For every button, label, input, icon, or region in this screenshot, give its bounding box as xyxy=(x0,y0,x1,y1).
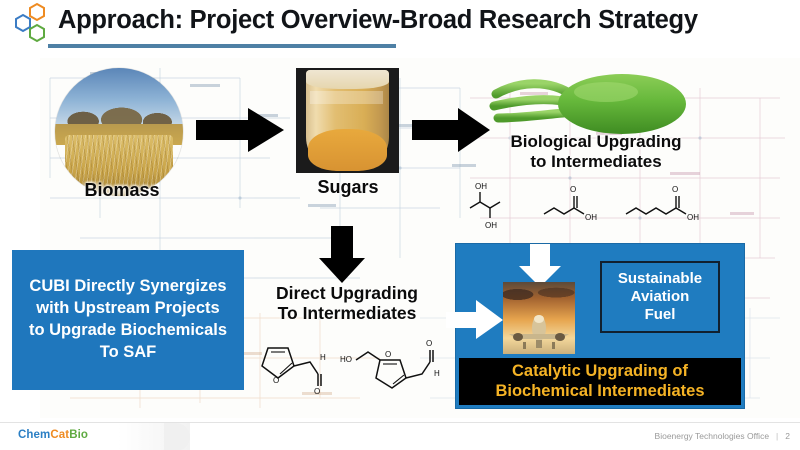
direct-molecule-structures: O O H HO O O H xyxy=(254,332,446,394)
wordmark-bio: Bio xyxy=(69,429,88,441)
footer-page-number: 2 xyxy=(785,431,790,441)
slide-footer: ChemCatBio Bioenergy Technologies Office… xyxy=(0,422,800,450)
slide-canvas: Approach: Project Overview-Broad Researc… xyxy=(0,0,800,450)
cubi-line2: with Upstream Projects xyxy=(36,299,219,317)
svg-text:HO: HO xyxy=(340,355,352,364)
svg-text:O: O xyxy=(385,350,391,359)
cubi-line1: CUBI Directly Synergizes xyxy=(29,277,226,295)
bio-label-line1: Biological Upgrading xyxy=(511,132,682,151)
svg-text:OH: OH xyxy=(585,213,597,222)
svg-text:O: O xyxy=(273,376,279,385)
svg-text:OH: OH xyxy=(475,182,487,191)
catalytic-banner-text: Catalytic Upgrading of Biochemical Inter… xyxy=(495,362,704,400)
cubi-line4: To SAF xyxy=(100,343,157,361)
airplane-image xyxy=(503,282,575,354)
wordmark-chem: Chem xyxy=(18,429,50,441)
banner-line2: Biochemical Intermediates xyxy=(495,382,704,400)
title-underline-rule xyxy=(48,44,396,48)
catalytic-banner: Catalytic Upgrading of Biochemical Inter… xyxy=(459,358,741,405)
chemcatbio-hexagon-logo xyxy=(4,2,56,50)
saf-line1: Sustainable xyxy=(618,270,702,287)
wordmark-cat: Cat xyxy=(50,429,69,441)
direct-label-line2: To Intermediates xyxy=(278,303,417,323)
svg-text:OH: OH xyxy=(687,213,699,222)
arrow-biomass-to-sugars xyxy=(196,108,286,152)
biomass-image xyxy=(55,68,183,196)
biomass-label: Biomass xyxy=(63,180,181,201)
direct-label-line1: Direct Upgrading xyxy=(276,283,418,303)
bio-label-line2: to Intermediates xyxy=(530,152,661,171)
svg-text:O: O xyxy=(314,387,320,394)
footer-right-group: Bioenergy Technologies Office | 2 xyxy=(655,431,790,441)
sugars-label: Sugars xyxy=(286,177,410,198)
svg-text:OH: OH xyxy=(485,221,497,230)
svg-text:O: O xyxy=(426,339,432,348)
page-title: Approach: Project Overview-Broad Researc… xyxy=(58,6,698,35)
biological-upgrading-label: Biological Upgrading to Intermediates xyxy=(476,132,716,172)
direct-upgrading-label: Direct Upgrading To Intermediates xyxy=(252,283,442,324)
svg-text:O: O xyxy=(570,185,576,194)
banner-line1: Catalytic Upgrading of xyxy=(512,362,688,380)
sugars-image xyxy=(296,68,399,173)
saf-text: Sustainable Aviation Fuel xyxy=(618,270,702,323)
biological-molecule-structures: OH OH O OH O OH xyxy=(466,178,706,236)
cubi-callout-text: CUBI Directly Synergizes with Upstream P… xyxy=(23,276,233,364)
sustainable-aviation-fuel-box: Sustainable Aviation Fuel xyxy=(600,261,720,333)
saf-line3: Fuel xyxy=(645,306,676,323)
svg-text:H: H xyxy=(434,369,440,378)
footer-office-label: Bioenergy Technologies Office xyxy=(655,431,770,441)
saf-line2: Aviation xyxy=(631,288,690,305)
arrow-direct-to-catalytic xyxy=(446,300,504,340)
chemcatbio-wordmark: ChemCatBio xyxy=(18,429,88,441)
cubi-line3: to Upgrade Biochemicals xyxy=(29,321,227,339)
footer-separator: | xyxy=(776,431,778,441)
arrow-sugars-to-direct xyxy=(318,226,366,284)
svg-text:O: O xyxy=(672,185,678,194)
svg-text:H: H xyxy=(320,353,326,362)
cubi-callout-box: CUBI Directly Synergizes with Upstream P… xyxy=(12,250,244,390)
